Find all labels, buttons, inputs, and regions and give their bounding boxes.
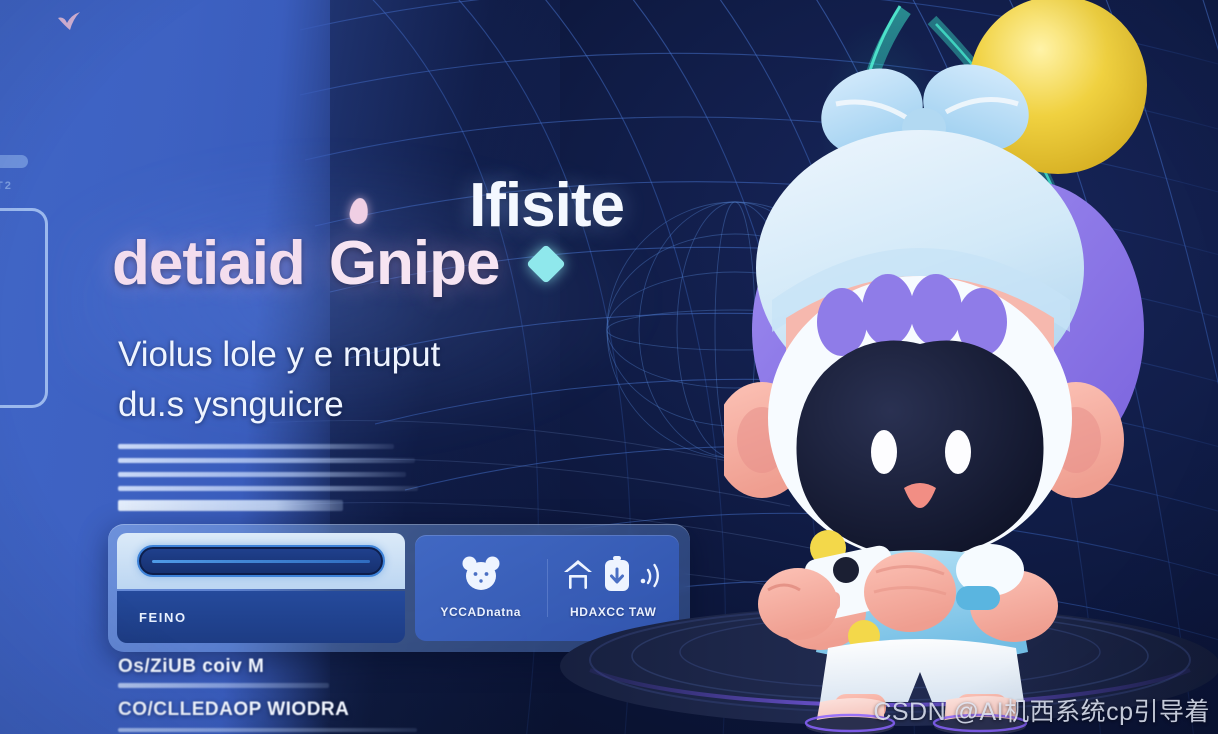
action-item-2-icons (561, 558, 665, 598)
subheadline-line-2: du.s ysnguicre (118, 380, 618, 430)
primary-button-label: FEINO (139, 610, 187, 625)
hand-left (758, 568, 838, 640)
face-screen (796, 341, 1043, 561)
bottom-body-lines (118, 728, 458, 734)
clipboard-download-icon (602, 555, 632, 598)
action-card-left: FEINO (117, 533, 405, 643)
body-copy-placeholder (118, 444, 418, 511)
subheadline-line-1: Violus lole y e muput (118, 330, 618, 380)
headline-line-1: Ifisite (112, 176, 632, 236)
headline-word-gnipe: Gnipe (329, 229, 500, 298)
upload-arrow-icon (561, 557, 595, 598)
edge-card-label: T2 (0, 180, 13, 192)
eye-left (871, 430, 897, 474)
headline: Ifisite detiaidGnipe (112, 176, 632, 296)
subheadline: Violus lole y e muput du.s ysnguicre (118, 330, 618, 429)
bottom-copy: Os/ZiUB coiv M CO/CLLEDAOP WIODRA (118, 656, 458, 734)
hand-right (864, 552, 956, 632)
headline-word-detiaid: detiaid (112, 229, 305, 298)
bear-face-icon (461, 555, 501, 598)
action-item-1-label: YCCADnatna (440, 605, 521, 619)
mascot-character (724, 0, 1218, 734)
action-item-1[interactable]: YCCADnatna (415, 558, 547, 619)
search-input[interactable] (137, 545, 385, 577)
check-bird-icon (56, 10, 82, 34)
edge-card-pill (0, 155, 28, 168)
bottom-subline (118, 683, 329, 688)
watermark: CSDN @AI机西系统cp引导着 (873, 692, 1210, 728)
banner-stage: T2 Ifisite detiaidGnipe Violus lole y e … (0, 0, 1218, 734)
eye-right (945, 430, 971, 474)
action-item-1-icons (461, 558, 501, 598)
primary-button[interactable]: FEINO (117, 591, 405, 643)
search-field-panel (117, 533, 405, 589)
bottom-title-2: CO/CLLEDAOP WIODRA (118, 699, 458, 721)
edge-card-frame (0, 208, 48, 408)
bottom-title-1: Os/ZiUB coiv M (118, 656, 458, 678)
signal-waves-icon (639, 557, 665, 598)
